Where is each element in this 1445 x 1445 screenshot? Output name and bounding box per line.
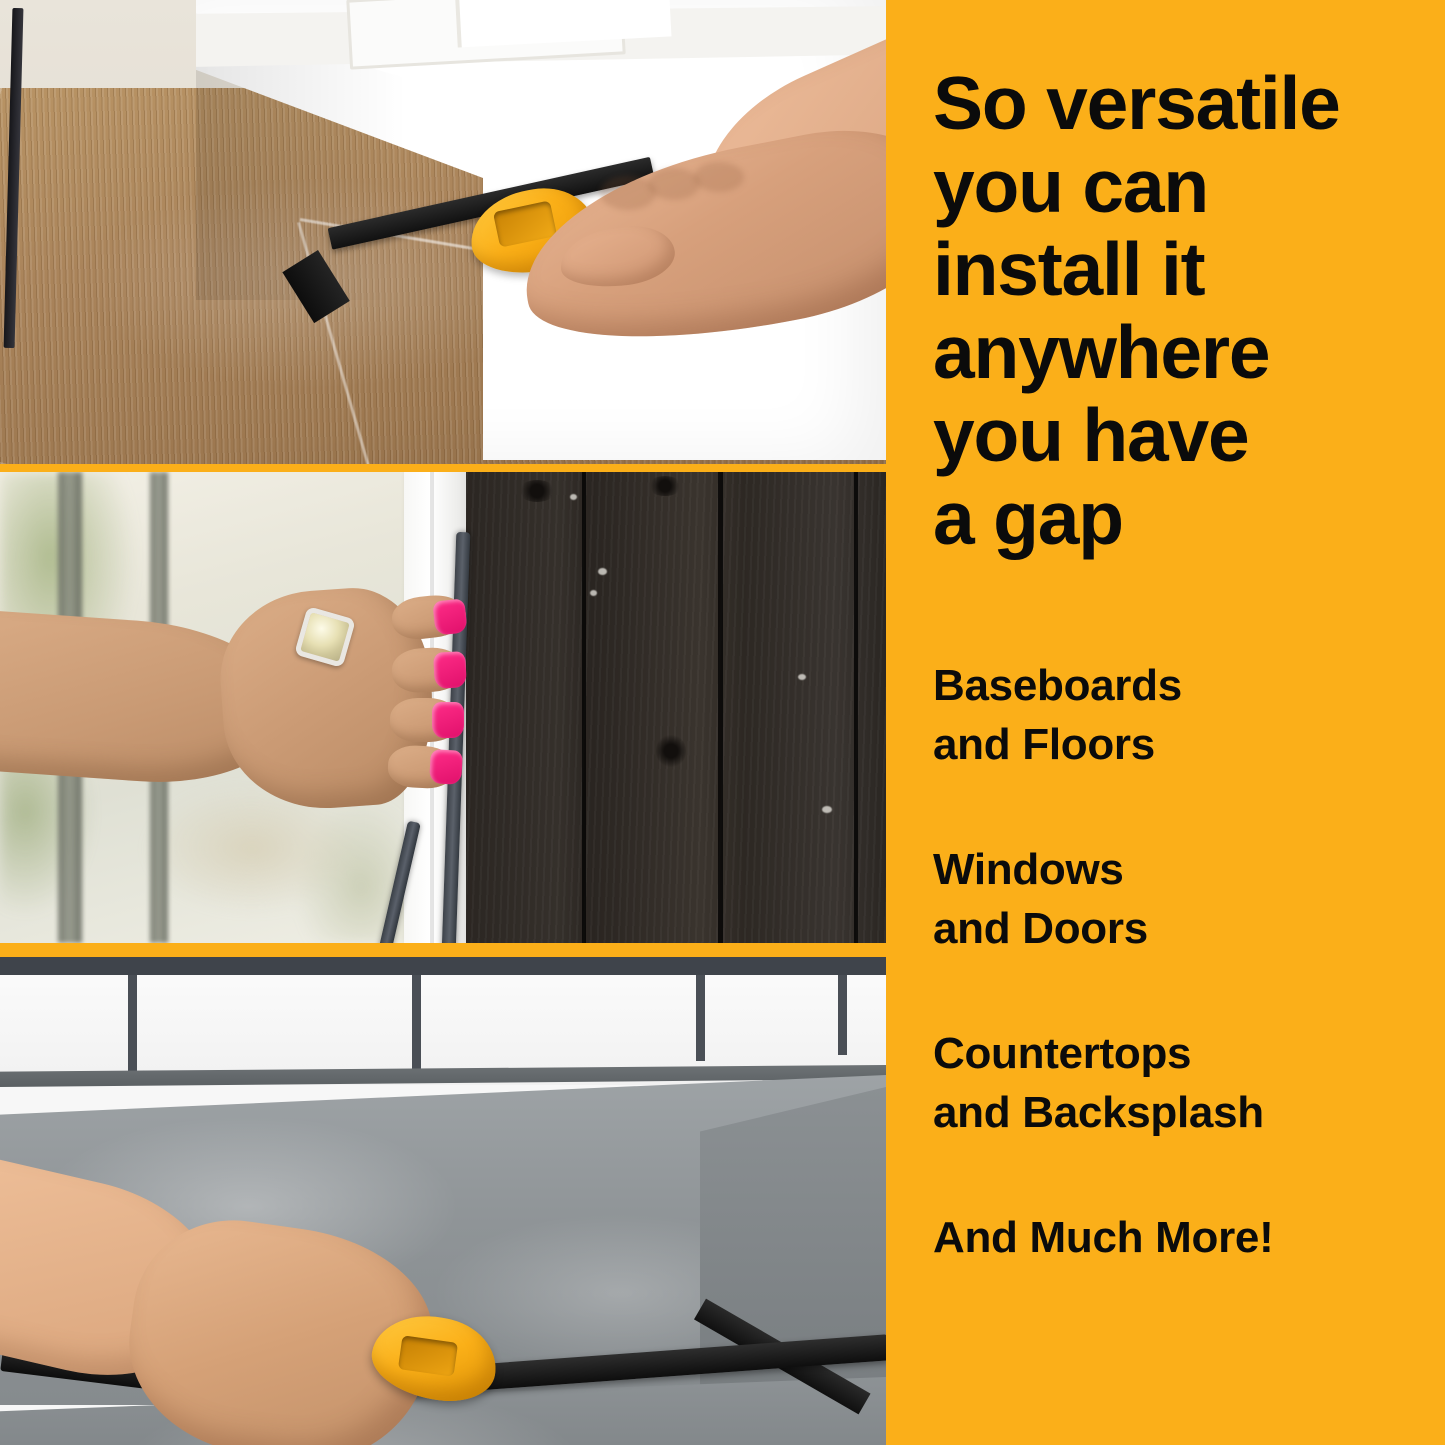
wood-knot	[656, 734, 686, 768]
use-case-item: Windows and Doors	[933, 840, 1433, 958]
photo-column	[0, 0, 886, 1445]
tile-grout-line	[0, 957, 886, 975]
wood-knot	[518, 480, 556, 502]
plank-seam	[582, 472, 586, 943]
product-feature-graphic: So versatile you can install it anywhere…	[0, 0, 1445, 1445]
text-panel: So versatile you can install it anywhere…	[886, 0, 1445, 1445]
plank-seam	[854, 472, 858, 943]
headline: So versatile you can install it anywhere…	[933, 62, 1433, 560]
photo-divider	[0, 464, 886, 472]
fingernail	[432, 702, 464, 738]
use-case-item: Countertops and Backsplash	[933, 1024, 1433, 1142]
use-case-item: Baseboards and Floors	[933, 656, 1433, 774]
photo-countertop-backsplash-install	[0, 957, 886, 1445]
wood-knot	[648, 476, 682, 496]
photo-baseboard-floor-install	[0, 0, 886, 464]
photo-divider	[0, 943, 886, 957]
photo-window-door-install	[0, 472, 886, 943]
paint-fleck	[598, 568, 607, 575]
fingernail	[432, 598, 467, 635]
paint-fleck	[822, 806, 832, 813]
knuckle-shading	[648, 168, 700, 200]
fingernail	[433, 651, 467, 689]
dark-wood-siding	[466, 472, 886, 943]
knuckle-shading	[694, 162, 744, 192]
use-case-item: And Much More!	[933, 1208, 1433, 1267]
fingernail	[429, 749, 463, 785]
paint-fleck	[570, 494, 577, 500]
use-cases-list: Baseboards and Floors Windows and Doors …	[933, 656, 1433, 1267]
paint-fleck	[590, 590, 597, 596]
plank-seam	[718, 472, 723, 943]
paint-fleck	[798, 674, 806, 680]
